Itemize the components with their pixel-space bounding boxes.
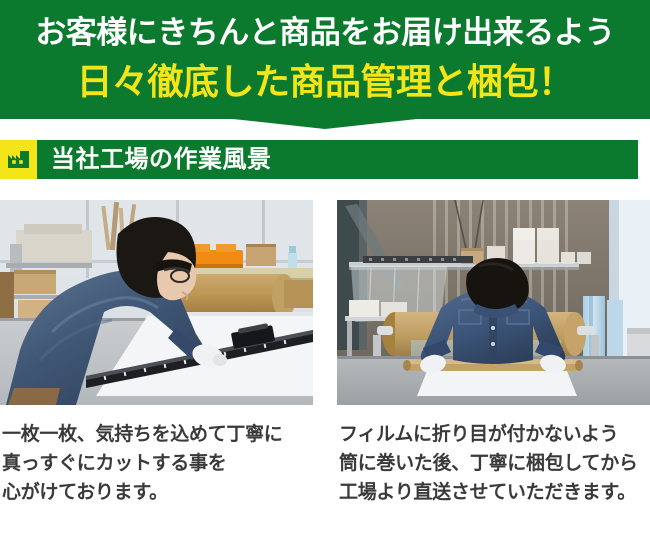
hero-banner: お客様にきちんと商品をお届け出来るよう 日々徹底した商品管理と梱包！ (0, 0, 650, 119)
section-heading-bar: 当社工場の作業風景 (0, 140, 638, 179)
photo-rolling-film (337, 200, 650, 405)
photo-row (0, 200, 650, 405)
factory-icon (8, 151, 29, 168)
photo-cutting-sheet (0, 200, 313, 405)
hero-notch-triangle (233, 119, 417, 129)
caption-right-line-3: 工場より直送させていただきます。 (339, 478, 650, 507)
section-title: 当社工場の作業風景 (51, 147, 272, 173)
caption-left-line-3: 心がけております。 (2, 478, 313, 507)
section-icon-box (0, 140, 37, 179)
photo-cutting-sheet-image (0, 200, 313, 405)
caption-left-line-1: 一枚一枚、気持ちを込めて丁寧に (2, 420, 313, 449)
caption-right: フィルムに折り目が付かないよう 筒に巻いた後、丁寧に梱包してから 工場より直送さ… (339, 420, 650, 507)
caption-left-line-2: 真っすぐにカットする事を (2, 449, 313, 478)
hero-headline-line1: お客様にきちんと商品をお届け出来るよう (0, 13, 650, 53)
hero-headline-line2: 日々徹底した商品管理と梱包！ (0, 59, 650, 105)
caption-left: 一枚一枚、気持ちを込めて丁寧に 真っすぐにカットする事を 心がけております。 (2, 420, 313, 507)
caption-right-line-2: 筒に巻いた後、丁寧に梱包してから (339, 449, 650, 478)
photo-rolling-film-image (337, 200, 650, 405)
caption-right-line-1: フィルムに折り目が付かないよう (339, 420, 650, 449)
